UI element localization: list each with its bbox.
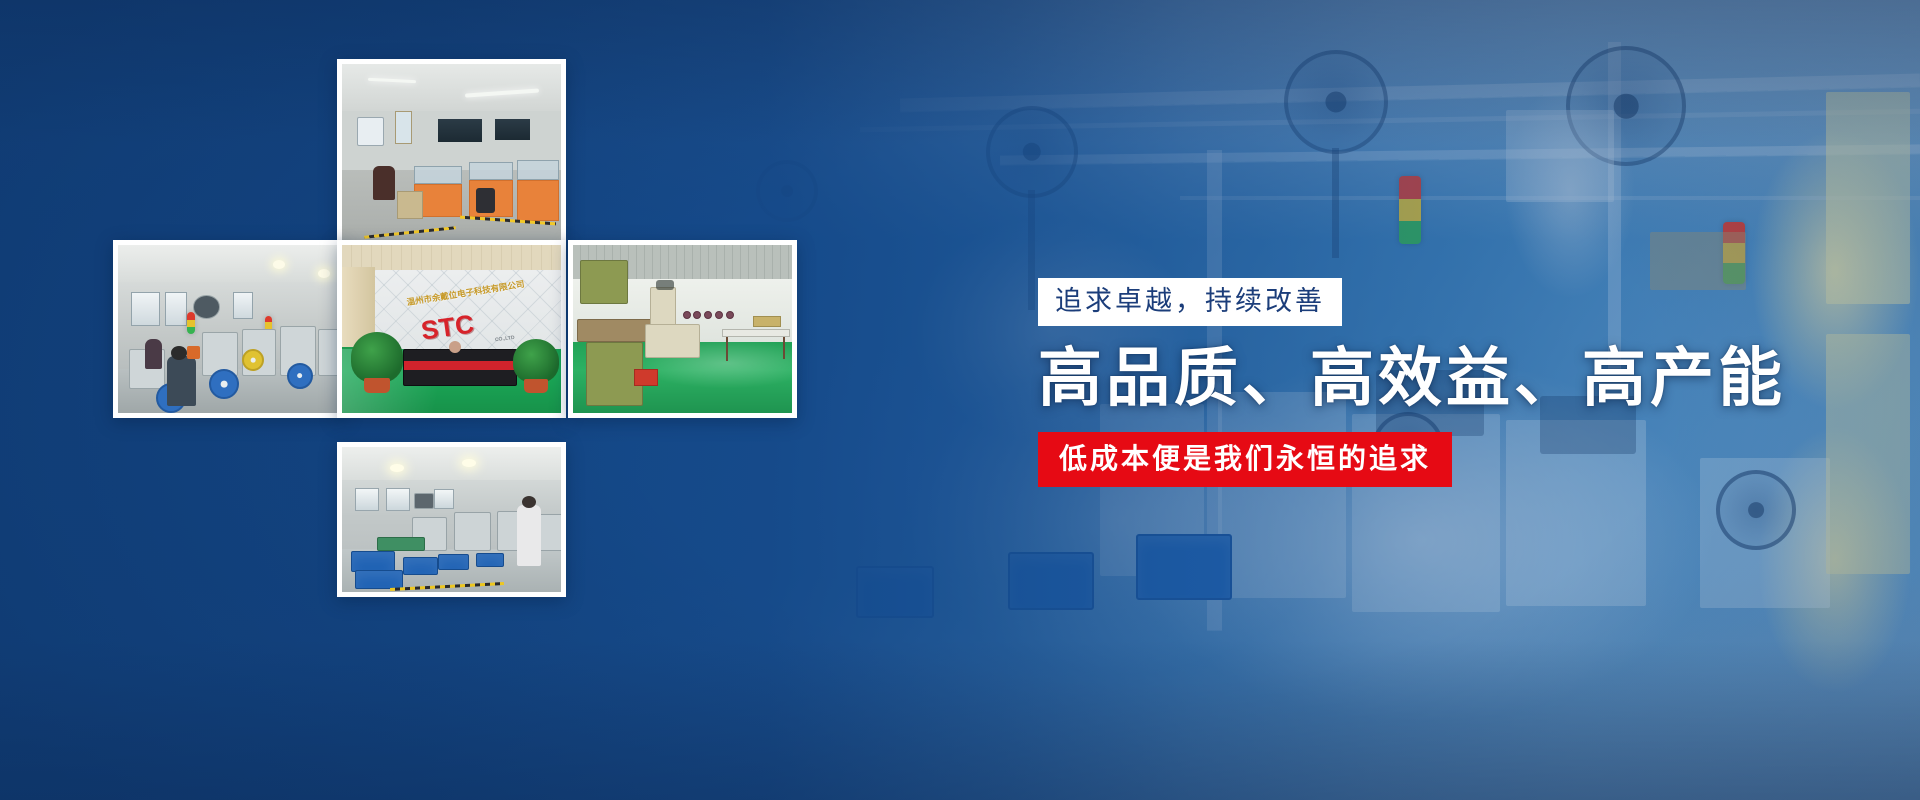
worker-figure [517,505,541,566]
orange-partition [517,180,559,220]
ceiling [342,447,561,480]
ceiling-lamp [462,459,476,467]
collage-photo-right[interactable] [568,240,797,418]
desk-red-stripe [404,361,516,370]
receptionist-figure [449,341,461,353]
collage-photo-left[interactable] [113,240,345,418]
photo-scene-machine-shop [573,245,792,413]
orange-box [187,346,200,359]
ceiling [342,64,561,111]
red-bin [634,369,658,386]
window [438,119,482,143]
window-light [357,117,383,146]
ceiling-lamp [318,269,330,278]
blue-crate [355,570,403,589]
blue-crate [403,557,438,574]
bench-leg [783,337,785,359]
photo-scene-assembly [342,447,561,592]
machine-unit [414,493,434,509]
office-chair [476,188,496,213]
window [165,292,187,326]
blue-crate [476,553,504,568]
window [355,488,379,511]
partition-glass [469,162,513,180]
photo-scene-office [342,64,561,246]
cardboard-panel [397,191,423,218]
window [386,488,410,511]
tool-tray [753,316,781,328]
window [131,292,160,326]
work-bench [722,329,790,337]
window [233,292,253,319]
blue-crate [351,551,395,571]
milling-machine [580,260,628,304]
hero-text-block: 追求卓越，持续改善 高品质、高效益、高产能 低成本便是我们永恒的追求 [1038,278,1798,487]
plant-pot [364,378,390,393]
machine-unit [454,512,491,551]
wall-dial [693,311,701,319]
worker-figure [145,339,163,369]
window [495,119,530,141]
collage-photo-bottom[interactable] [337,442,566,597]
photo-scene-reception: 温州市余戴位电子科技有限公司 STC CO.,LTD [342,245,561,413]
tagline-banner: 追求卓越，持续改善 [1038,278,1342,326]
component-reel [287,363,313,389]
photo-scene-production-line [118,245,340,413]
surface-grinder [645,324,700,358]
wall-dial [704,311,712,319]
plant-pot [524,379,548,392]
window [434,489,454,509]
potted-plant [513,339,559,383]
factory-photo-collage: 温州市余戴位电子科技有限公司 STC CO.,LTD [0,0,1000,800]
worker-figure [373,166,395,201]
poster [395,111,413,144]
partition-glass [414,166,462,184]
partition-glass [517,160,559,180]
wall-dial [726,311,734,319]
collage-photo-center[interactable]: 温州市余戴位电子科技有限公司 STC CO.,LTD [337,240,566,418]
slogan-banner: 低成本便是我们永恒的追求 [1038,432,1452,487]
worker-head [171,346,187,360]
bench-leg [726,337,728,361]
worker-figure [167,356,196,406]
machine-detail [656,280,674,290]
machine-unit [193,295,220,319]
collage-photo-top[interactable] [337,59,566,251]
ceiling [118,245,340,282]
factory-hero-banner: 温州市余戴位电子科技有限公司 STC CO.,LTD [0,0,1920,800]
wall-dial [715,311,723,319]
potted-plant [351,332,404,382]
worker-head [522,496,536,508]
machine-table [577,319,651,343]
wall-dial [683,311,691,319]
stack-light-icon [187,312,195,334]
headline: 高品质、高效益、高产能 [1038,344,1798,413]
reception-desk [403,349,517,386]
blue-crate [438,554,469,570]
green-worktable [377,537,425,552]
